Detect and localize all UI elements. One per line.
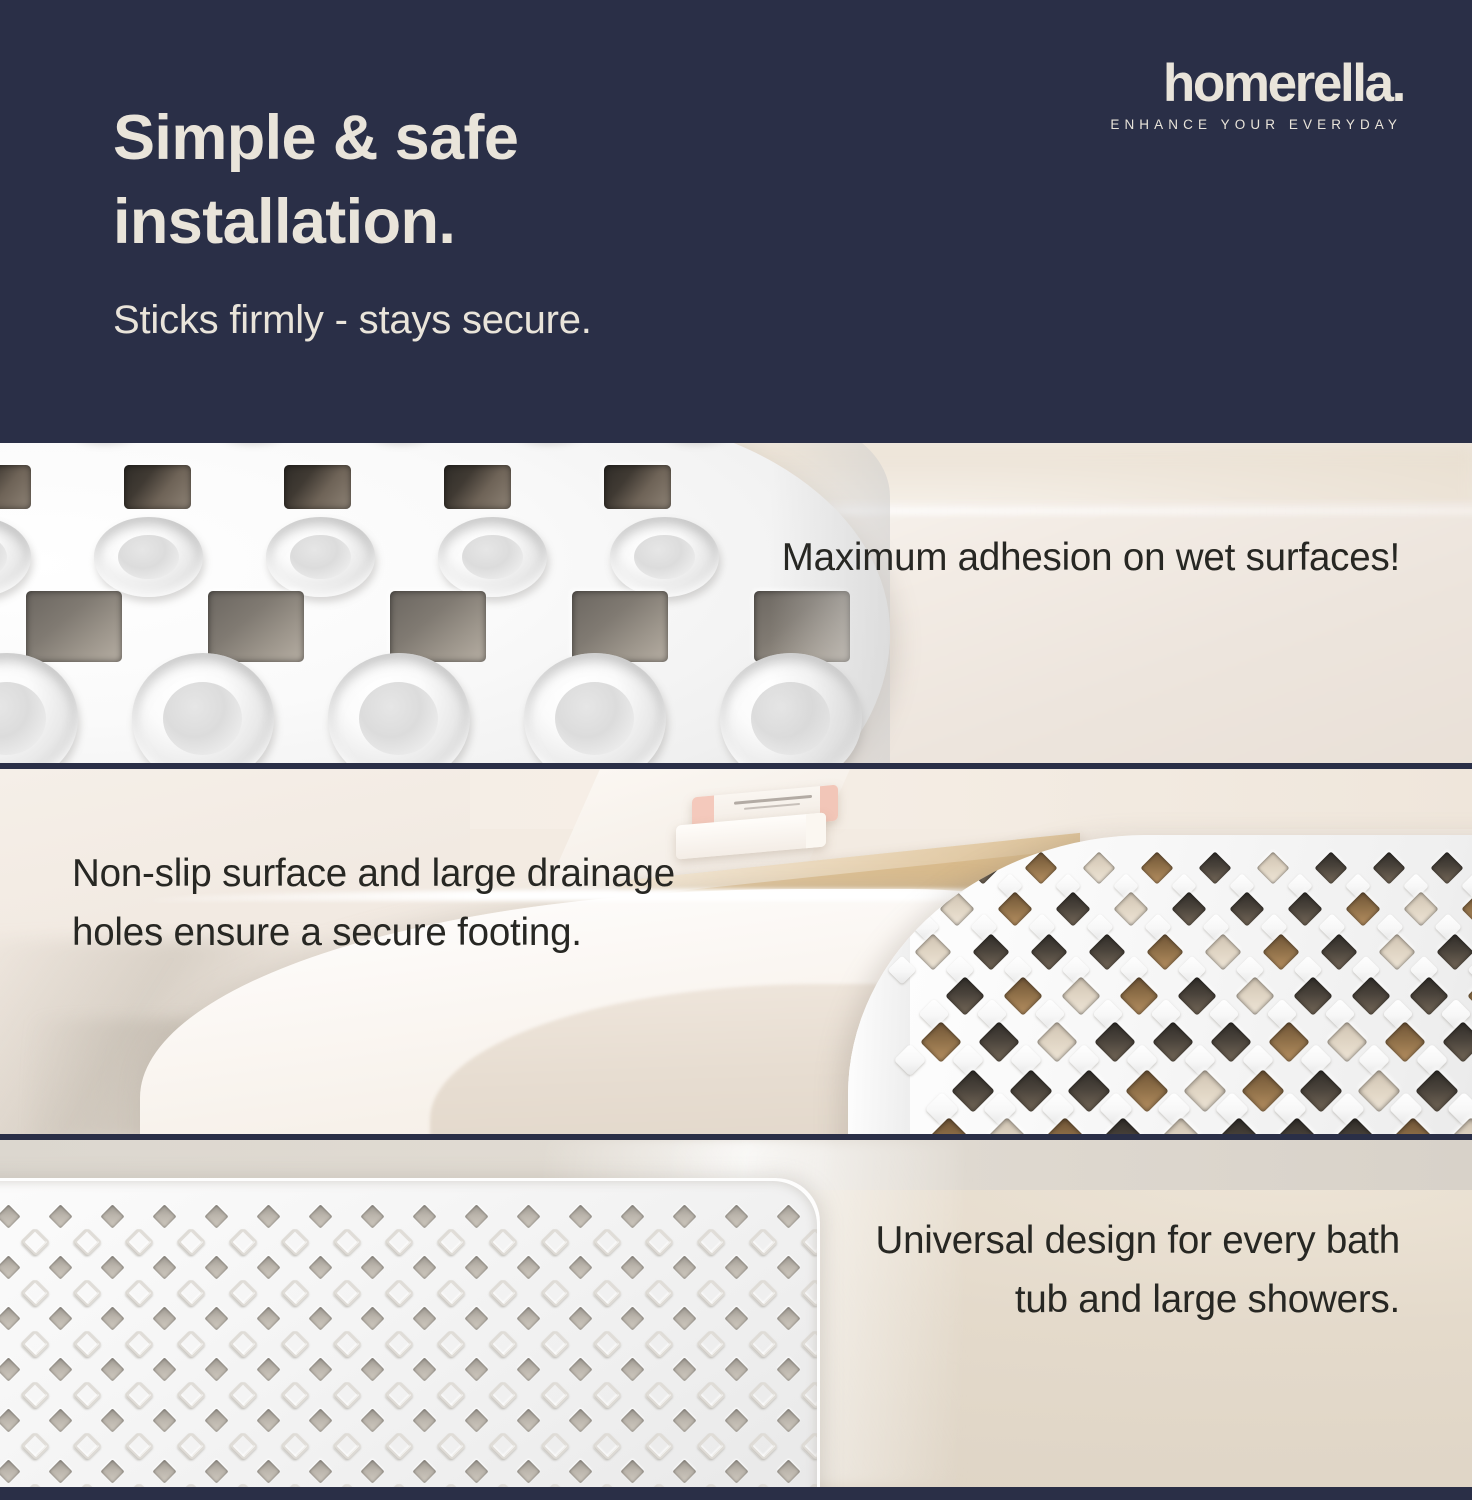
panel-universal: Universal design for every bath tub and … bbox=[0, 1140, 1472, 1487]
drainage-hole bbox=[966, 851, 999, 884]
embossed-diamond bbox=[282, 1330, 310, 1358]
embossed-diamond bbox=[750, 1432, 778, 1460]
embossed-diamond bbox=[698, 1228, 726, 1256]
perforation-hole bbox=[672, 1306, 696, 1330]
perforation-hole bbox=[724, 1204, 748, 1228]
header-banner: Simple & safe installation. Sticks firml… bbox=[0, 0, 1472, 443]
perforation-hole bbox=[256, 1306, 280, 1330]
panel3-perforation-grid bbox=[0, 1204, 794, 1487]
perforation-hole bbox=[464, 1306, 488, 1330]
embossed-diamond bbox=[490, 1330, 518, 1358]
drainage-hole bbox=[1198, 851, 1231, 884]
soap-label-line-2 bbox=[744, 803, 800, 810]
embossed-diamond bbox=[334, 1279, 362, 1307]
embossed-diamond bbox=[490, 1432, 518, 1460]
embossed-diamond bbox=[594, 1228, 622, 1256]
perforation-hole bbox=[464, 1459, 488, 1483]
embossed-diamond bbox=[542, 1228, 570, 1256]
embossed-diamond bbox=[490, 1381, 518, 1409]
embossed-diamond bbox=[178, 1381, 206, 1409]
suction-cup-inner bbox=[163, 682, 242, 755]
drainage-hole bbox=[1216, 1117, 1262, 1134]
perforation-hole bbox=[100, 1204, 124, 1228]
perforation-hole bbox=[48, 1357, 72, 1381]
drainage-hole bbox=[1345, 891, 1380, 926]
panel-universal-caption: Universal design for every bath tub and … bbox=[840, 1212, 1400, 1329]
panel1-mat-closeup bbox=[0, 443, 890, 763]
embossed-diamond bbox=[490, 1279, 518, 1307]
perforation-hole bbox=[360, 1204, 384, 1228]
perforation-hole bbox=[412, 1408, 436, 1432]
perforation-hole bbox=[256, 1357, 280, 1381]
embossed-diamond bbox=[282, 1432, 310, 1460]
drainage-hole bbox=[1055, 891, 1090, 926]
panel-non-slip-caption: Non-slip surface and large drainage hole… bbox=[72, 845, 712, 962]
perforation-hole bbox=[516, 1357, 540, 1381]
embossed-diamond bbox=[74, 1381, 102, 1409]
anti-slip-nub bbox=[1300, 1044, 1332, 1076]
suction-cup-inner bbox=[0, 535, 7, 580]
drainage-hole bbox=[572, 591, 668, 662]
perforation-hole bbox=[776, 1204, 800, 1228]
drainage-hole bbox=[754, 591, 850, 662]
drainage-hole bbox=[1088, 933, 1125, 970]
drainage-hole bbox=[1140, 851, 1173, 884]
panel-non-slip: Non-slip surface and large drainage hole… bbox=[0, 769, 1472, 1134]
embossed-diamond bbox=[230, 1330, 258, 1358]
anti-slip-nub bbox=[1467, 955, 1472, 984]
perforation-hole bbox=[516, 1255, 540, 1279]
embossed-diamond bbox=[438, 1432, 466, 1460]
suction-cup-inner bbox=[555, 682, 634, 755]
drainage-hole bbox=[1042, 1117, 1088, 1134]
embossed-diamond bbox=[490, 1228, 518, 1256]
embossed-diamond bbox=[542, 1432, 570, 1460]
embossed-diamond bbox=[698, 1432, 726, 1460]
suction-cup-inner bbox=[634, 535, 695, 580]
perforation-hole bbox=[152, 1357, 176, 1381]
perforation-hole bbox=[724, 1306, 748, 1330]
embossed-diamond bbox=[126, 1381, 154, 1409]
drainage-hole bbox=[914, 933, 951, 970]
drainage-hole bbox=[1113, 891, 1148, 926]
perforation-hole bbox=[100, 1357, 124, 1381]
perforation-hole bbox=[568, 1408, 592, 1432]
embossed-diamond bbox=[698, 1279, 726, 1307]
drainage-hole bbox=[1320, 933, 1357, 970]
drainage-hole bbox=[1256, 851, 1289, 884]
product-infographic: Simple & safe installation. Sticks firml… bbox=[0, 0, 1472, 1500]
embossed-diamond bbox=[282, 1279, 310, 1307]
panel-adhesion-caption: Maximum adhesion on wet surfaces! bbox=[780, 529, 1400, 588]
perforation-hole bbox=[0, 1357, 21, 1381]
drainage-hole bbox=[1442, 1022, 1472, 1064]
anti-slip-nub bbox=[1068, 1044, 1100, 1076]
perforation-hole bbox=[204, 1255, 228, 1279]
perforation-hole bbox=[204, 1408, 228, 1432]
drainage-hole bbox=[1030, 933, 1067, 970]
page-subtitle: Sticks firmly - stays secure. bbox=[113, 298, 592, 343]
perforation-hole bbox=[0, 1306, 21, 1330]
anti-slip-nub bbox=[1416, 1044, 1448, 1076]
embossed-diamond bbox=[594, 1432, 622, 1460]
drainage-hole bbox=[1146, 933, 1183, 970]
drainage-hole bbox=[1082, 851, 1115, 884]
embossed-diamond bbox=[646, 1432, 674, 1460]
perforation-hole bbox=[360, 1255, 384, 1279]
suction-cup-inner bbox=[0, 682, 46, 755]
suction-cup bbox=[266, 517, 375, 597]
perforation-hole bbox=[620, 1255, 644, 1279]
perforation-hole bbox=[516, 1204, 540, 1228]
embossed-diamond bbox=[802, 1279, 820, 1307]
drainage-hole bbox=[939, 891, 974, 926]
perforation-hole bbox=[152, 1204, 176, 1228]
anti-slip-nub bbox=[894, 1044, 926, 1076]
perforation-hole bbox=[724, 1255, 748, 1279]
perforation-hole bbox=[48, 1306, 72, 1330]
anti-slip-nub bbox=[1184, 1044, 1216, 1076]
suction-cup-inner bbox=[751, 682, 830, 755]
perforation-hole bbox=[360, 1357, 384, 1381]
drainage-hole bbox=[1100, 1117, 1146, 1134]
panel1-suction-cup-grid bbox=[0, 443, 690, 743]
anti-slip-nub bbox=[925, 1091, 959, 1125]
perforation-hole bbox=[308, 1255, 332, 1279]
embossed-diamond bbox=[126, 1432, 154, 1460]
drainage-hole bbox=[1461, 891, 1472, 926]
embossed-diamond bbox=[646, 1381, 674, 1409]
drainage-hole bbox=[1378, 933, 1415, 970]
embossed-diamond bbox=[386, 1228, 414, 1256]
embossed-diamond bbox=[750, 1279, 778, 1307]
embossed-diamond bbox=[230, 1432, 258, 1460]
perforation-hole bbox=[464, 1255, 488, 1279]
perforation-hole bbox=[204, 1357, 228, 1381]
embossed-diamond bbox=[230, 1381, 258, 1409]
embossed-diamond bbox=[334, 1228, 362, 1256]
embossed-diamond bbox=[334, 1432, 362, 1460]
embossed-diamond bbox=[22, 1228, 50, 1256]
perforation-hole bbox=[152, 1306, 176, 1330]
embossed-diamond bbox=[802, 1330, 820, 1358]
embossed-diamond bbox=[698, 1330, 726, 1358]
embossed-diamond bbox=[126, 1228, 154, 1256]
perforation-hole bbox=[256, 1255, 280, 1279]
embossed-diamond bbox=[750, 1228, 778, 1256]
embossed-diamond bbox=[594, 1330, 622, 1358]
suction-cup bbox=[524, 653, 666, 763]
embossed-diamond bbox=[438, 1381, 466, 1409]
embossed-diamond bbox=[594, 1381, 622, 1409]
perforation-hole bbox=[0, 1204, 21, 1228]
drainage-hole bbox=[1158, 1117, 1204, 1134]
suction-cup bbox=[0, 653, 78, 763]
perforation-hole bbox=[620, 1408, 644, 1432]
perforation-hole bbox=[568, 1459, 592, 1483]
embossed-diamond bbox=[542, 1381, 570, 1409]
embossed-diamond bbox=[178, 1330, 206, 1358]
embossed-diamond bbox=[698, 1381, 726, 1409]
drainage-hole bbox=[284, 465, 351, 509]
drainage-hole bbox=[1262, 933, 1299, 970]
embossed-diamond bbox=[750, 1330, 778, 1358]
drainage-hole bbox=[1229, 891, 1264, 926]
perforation-hole bbox=[100, 1459, 124, 1483]
embossed-diamond bbox=[646, 1330, 674, 1358]
perforation-hole bbox=[620, 1459, 644, 1483]
brand-logo-tagline: ENHANCE YOUR EVERYDAY bbox=[1074, 117, 1404, 132]
panel2-drainage-hole-grid bbox=[892, 835, 1472, 1134]
drainage-hole bbox=[390, 591, 486, 662]
embossed-diamond bbox=[178, 1228, 206, 1256]
embossed-diamond bbox=[438, 1279, 466, 1307]
embossed-diamond bbox=[74, 1330, 102, 1358]
embossed-diamond bbox=[438, 1330, 466, 1358]
perforation-hole bbox=[412, 1255, 436, 1279]
embossed-diamond bbox=[386, 1432, 414, 1460]
perforation-hole bbox=[620, 1357, 644, 1381]
drainage-hole bbox=[1024, 851, 1057, 884]
embossed-diamond bbox=[438, 1228, 466, 1256]
suction-cup bbox=[0, 517, 31, 597]
drainage-hole bbox=[208, 591, 304, 662]
drainage-hole bbox=[1403, 891, 1438, 926]
perforation-hole bbox=[724, 1357, 748, 1381]
suction-cup-inner bbox=[462, 535, 523, 580]
perforation-hole bbox=[152, 1408, 176, 1432]
perforation-hole bbox=[464, 1357, 488, 1381]
embossed-diamond bbox=[22, 1432, 50, 1460]
perforation-hole bbox=[776, 1408, 800, 1432]
anti-slip-nub bbox=[1126, 1044, 1158, 1076]
drainage-hole bbox=[124, 465, 191, 509]
suction-cup bbox=[328, 653, 470, 763]
drainage-hole bbox=[444, 465, 511, 509]
perforation-hole bbox=[776, 1357, 800, 1381]
anti-slip-nub bbox=[1242, 1044, 1274, 1076]
suction-cup bbox=[94, 517, 203, 597]
embossed-diamond bbox=[334, 1330, 362, 1358]
perforation-hole bbox=[0, 1255, 21, 1279]
perforation-hole bbox=[724, 1459, 748, 1483]
drainage-hole bbox=[972, 933, 1009, 970]
suction-cup bbox=[132, 653, 274, 763]
soap-wrapper-right bbox=[806, 812, 826, 848]
embossed-diamond bbox=[230, 1228, 258, 1256]
perforation-hole bbox=[152, 1255, 176, 1279]
perforation-hole bbox=[620, 1204, 644, 1228]
drainage-hole bbox=[908, 851, 941, 884]
embossed-diamond bbox=[282, 1228, 310, 1256]
perforation-hole bbox=[672, 1357, 696, 1381]
drainage-hole bbox=[1287, 891, 1322, 926]
anti-slip-nub bbox=[952, 1044, 984, 1076]
embossed-diamond bbox=[178, 1432, 206, 1460]
perforation-hole bbox=[672, 1459, 696, 1483]
drainage-hole bbox=[997, 891, 1032, 926]
brand-logo-wordmark: homerella. bbox=[1074, 57, 1404, 110]
page-title: Simple & safe installation. bbox=[113, 96, 833, 265]
embossed-diamond bbox=[386, 1330, 414, 1358]
suction-cup-inner bbox=[359, 682, 438, 755]
perforation-hole bbox=[776, 1255, 800, 1279]
perforation-hole bbox=[776, 1459, 800, 1483]
anti-slip-nub bbox=[1010, 1044, 1042, 1076]
embossed-diamond bbox=[750, 1381, 778, 1409]
drainage-hole bbox=[1274, 1117, 1320, 1134]
embossed-diamond bbox=[646, 1279, 674, 1307]
perforation-hole bbox=[672, 1255, 696, 1279]
drainage-hole bbox=[1204, 933, 1241, 970]
drainage-hole bbox=[1372, 851, 1405, 884]
perforation-hole bbox=[360, 1306, 384, 1330]
suction-cup bbox=[610, 517, 719, 597]
drainage-hole bbox=[0, 465, 31, 509]
perforation-hole bbox=[568, 1255, 592, 1279]
embossed-diamond bbox=[646, 1228, 674, 1256]
perforation-hole bbox=[672, 1408, 696, 1432]
perforation-hole bbox=[48, 1204, 72, 1228]
perforation-hole bbox=[256, 1459, 280, 1483]
suction-cup-inner bbox=[118, 535, 179, 580]
perforation-hole bbox=[568, 1306, 592, 1330]
embossed-diamond bbox=[178, 1279, 206, 1307]
perforation-hole bbox=[204, 1459, 228, 1483]
embossed-diamond bbox=[542, 1279, 570, 1307]
embossed-diamond bbox=[802, 1381, 820, 1409]
footer-bar bbox=[0, 1487, 1472, 1500]
perforation-hole bbox=[412, 1306, 436, 1330]
perforation-hole bbox=[568, 1357, 592, 1381]
perforation-hole bbox=[48, 1459, 72, 1483]
embossed-diamond bbox=[802, 1432, 820, 1460]
embossed-diamond bbox=[74, 1228, 102, 1256]
drainage-hole bbox=[926, 1117, 972, 1134]
perforation-hole bbox=[0, 1459, 21, 1483]
perforation-hole bbox=[412, 1459, 436, 1483]
embossed-diamond bbox=[74, 1279, 102, 1307]
perforation-hole bbox=[360, 1459, 384, 1483]
perforation-hole bbox=[516, 1306, 540, 1330]
embossed-diamond bbox=[126, 1330, 154, 1358]
panel-adhesion: Maximum adhesion on wet surfaces! bbox=[0, 443, 1472, 763]
panel3-full-mat bbox=[0, 1178, 820, 1487]
perforation-hole bbox=[464, 1204, 488, 1228]
perforation-hole bbox=[100, 1255, 124, 1279]
perforation-hole bbox=[776, 1306, 800, 1330]
perforation-hole bbox=[204, 1204, 228, 1228]
perforation-hole bbox=[100, 1408, 124, 1432]
drainage-hole bbox=[1390, 1117, 1436, 1134]
perforation-hole bbox=[360, 1408, 384, 1432]
drainage-hole bbox=[1430, 851, 1463, 884]
drainage-hole bbox=[1314, 851, 1347, 884]
perforation-hole bbox=[100, 1306, 124, 1330]
embossed-diamond bbox=[22, 1381, 50, 1409]
soap-label-line-1 bbox=[734, 795, 812, 805]
embossed-diamond bbox=[334, 1381, 362, 1409]
embossed-diamond bbox=[594, 1279, 622, 1307]
embossed-diamond bbox=[282, 1381, 310, 1409]
suction-cup bbox=[438, 517, 547, 597]
perforation-hole bbox=[516, 1408, 540, 1432]
drainage-hole bbox=[26, 591, 122, 662]
perforation-hole bbox=[516, 1459, 540, 1483]
perforation-hole bbox=[308, 1204, 332, 1228]
embossed-diamond bbox=[126, 1279, 154, 1307]
embossed-diamond bbox=[386, 1381, 414, 1409]
embossed-diamond bbox=[22, 1330, 50, 1358]
drainage-hole bbox=[1436, 933, 1472, 970]
perforation-hole bbox=[308, 1357, 332, 1381]
drainage-hole bbox=[1332, 1117, 1378, 1134]
perforation-hole bbox=[256, 1204, 280, 1228]
perforation-hole bbox=[48, 1255, 72, 1279]
drainage-hole bbox=[984, 1117, 1030, 1134]
embossed-diamond bbox=[22, 1279, 50, 1307]
perforation-hole bbox=[308, 1459, 332, 1483]
embossed-diamond bbox=[386, 1279, 414, 1307]
embossed-diamond bbox=[802, 1228, 820, 1256]
suction-cup bbox=[720, 653, 862, 763]
perforation-hole bbox=[568, 1204, 592, 1228]
perforation-hole bbox=[620, 1306, 644, 1330]
embossed-diamond bbox=[230, 1279, 258, 1307]
anti-slip-nub bbox=[1358, 1044, 1390, 1076]
perforation-hole bbox=[256, 1408, 280, 1432]
embossed-diamond bbox=[74, 1432, 102, 1460]
perforation-hole bbox=[308, 1408, 332, 1432]
perforation-hole bbox=[48, 1408, 72, 1432]
perforation-hole bbox=[308, 1306, 332, 1330]
perforation-hole bbox=[724, 1408, 748, 1432]
panel2-mat-curved bbox=[848, 835, 1472, 1134]
anti-slip-nub bbox=[887, 955, 916, 984]
suction-cup-inner bbox=[290, 535, 351, 580]
perforation-hole bbox=[464, 1408, 488, 1432]
perforation-hole bbox=[204, 1306, 228, 1330]
perforation-hole bbox=[0, 1408, 21, 1432]
drainage-hole bbox=[1171, 891, 1206, 926]
perforation-hole bbox=[152, 1459, 176, 1483]
drainage-hole bbox=[604, 465, 671, 509]
perforation-hole bbox=[672, 1204, 696, 1228]
anti-slip-nub bbox=[1461, 873, 1472, 899]
embossed-diamond bbox=[542, 1330, 570, 1358]
perforation-hole bbox=[412, 1204, 436, 1228]
brand-logo: homerella. ENHANCE YOUR EVERYDAY bbox=[1074, 57, 1404, 132]
perforation-hole bbox=[412, 1357, 436, 1381]
